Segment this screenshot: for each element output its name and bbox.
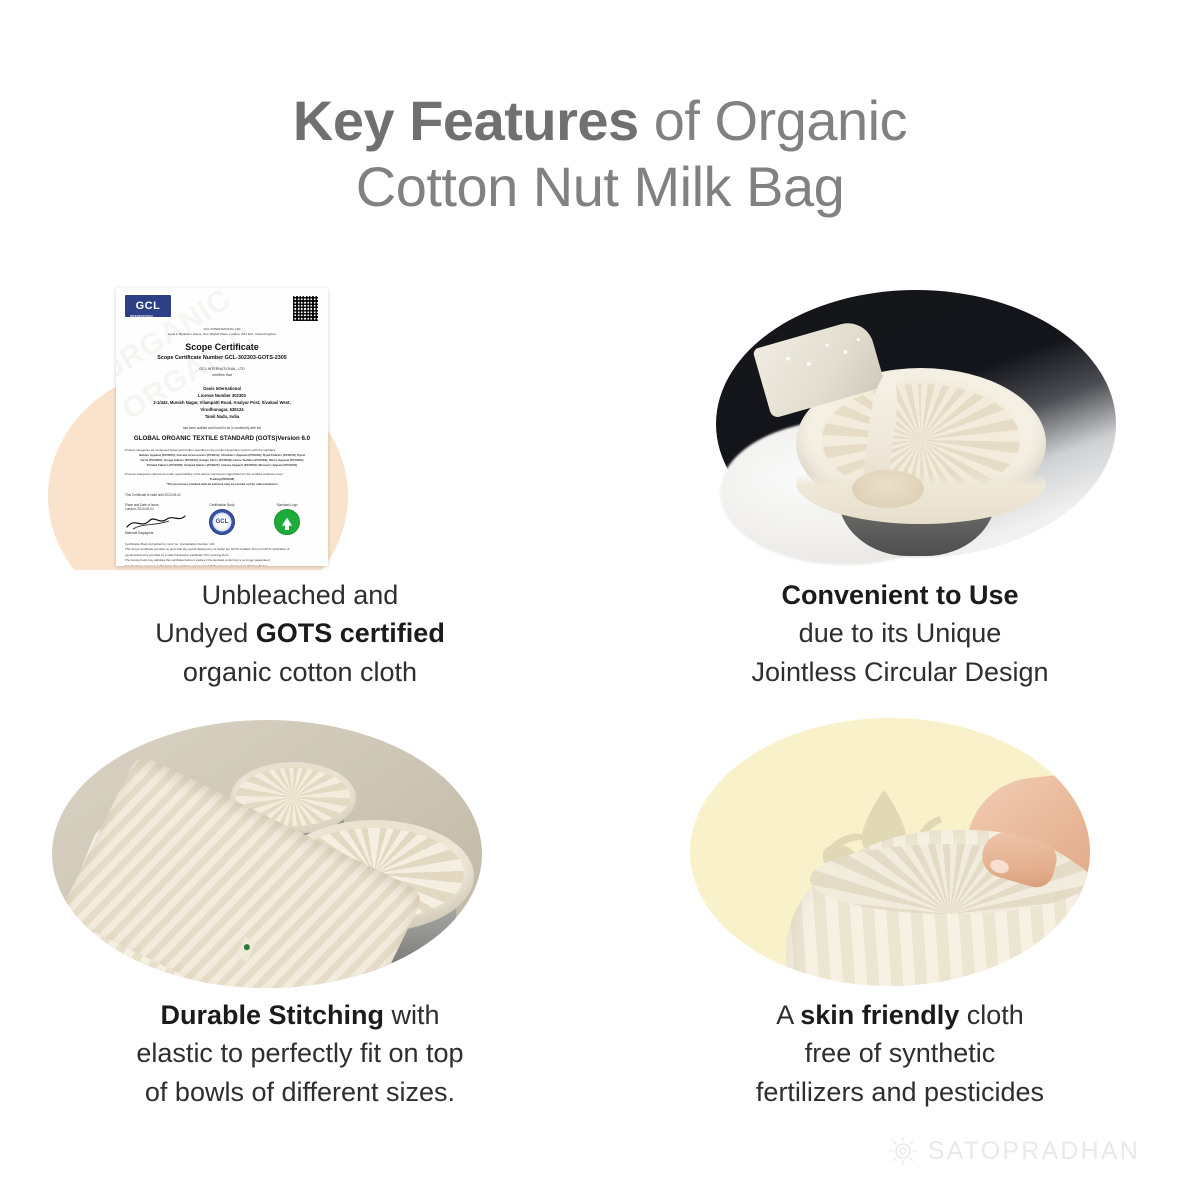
certification-body-column: Certification Body <box>190 503 254 535</box>
title-bold-part: Key Features <box>293 89 639 152</box>
product-categories-block: Product categories as mentioned below (a… <box>125 448 319 467</box>
hand-holding-cloth-photo <box>600 700 1200 990</box>
feature-card-gots-certificate: ORGANIC ORGANIC GCL INTERNATIONAL GCL IN… <box>0 280 600 700</box>
process-note: *The processes marked with an asterisk m… <box>125 482 319 487</box>
caption-3-line-1: Durable Stitching with <box>0 996 600 1034</box>
feature-card-convenient-to-use: Convenient to Use due to its Unique Join… <box>600 280 1200 700</box>
holder-name: Oasis International <box>125 385 319 392</box>
feature-card-durable-stitching: Durable Stitching with elastic to perfec… <box>0 700 600 1120</box>
feature-caption-convenient: Convenient to Use due to its Unique Join… <box>600 576 1200 691</box>
caption-4-line-1-pre: A <box>776 1000 800 1030</box>
gcl-logo: GCL INTERNATIONAL <box>125 295 171 317</box>
title-line-2: Cotton Nut Milk Bag <box>0 154 1200 220</box>
caption-2-line-1-bold: Convenient to Use <box>781 580 1018 610</box>
skin-friendly-scene <box>600 700 1200 990</box>
certification-body-label: Certification Body <box>190 503 254 507</box>
certifies-that-label: certifies that <box>125 373 319 379</box>
holder-license: License Number 302303 <box>125 392 319 399</box>
conformity-statement: has been audited and found to be in conf… <box>125 426 319 430</box>
bowls-scene <box>0 700 600 990</box>
signatory-name: Mahimat Sagulgmar <box>125 531 189 535</box>
categories-line-2: Yarns (PC0029); Greige fabrics (PC0016);… <box>125 458 319 463</box>
handwritten-signature <box>125 511 189 531</box>
feature-caption-skin-friendly: A skin friendly cloth free of synthetic … <box>600 996 1200 1111</box>
standard-name: GLOBAL ORGANIC TEXTILE STANDARD (GOTS)Ve… <box>125 435 319 442</box>
caption-1-line-2-bold: GOTS certified <box>256 618 445 648</box>
certificate-signature-row: Place and Date of issue London, 2023-05-… <box>125 503 319 535</box>
brand-name-text: SATOPRADHAN <box>928 1137 1140 1166</box>
place-and-date-column: Place and Date of issue London, 2023-05-… <box>125 503 189 535</box>
certificate-holder-block: Oasis International License Number 30230… <box>125 385 319 421</box>
pouring-scene <box>600 280 1200 570</box>
brand-watermark: SATOPRADHAN <box>888 1136 1140 1166</box>
process-categories-block: Process categories carried out under res… <box>125 472 319 486</box>
title-light-part: of Organic <box>639 89 907 152</box>
feature-caption-stitching: Durable Stitching with elastic to perfec… <box>0 996 600 1111</box>
certificate-issuer-block: GCL INTERNATIONAL, LTD certifies that <box>125 367 319 379</box>
holder-address-3: Tamil Nadu, India <box>125 413 319 420</box>
gcl-logo-text: GCL <box>136 300 161 312</box>
caption-4-line-2: free of synthetic <box>600 1034 1200 1072</box>
holder-address-2: Virudhunagar, 626124 <box>125 406 319 413</box>
standard-logo-label: Standard Logo <box>255 503 319 507</box>
pouring-nut-milk-photo <box>600 280 1200 570</box>
title-line-1: Key Features of Organic <box>0 88 1200 154</box>
caption-1-line-2: Undyed GOTS certified <box>0 614 600 652</box>
nut-pulp-pool <box>852 470 924 508</box>
caption-3-line-1-post: with <box>384 1000 440 1030</box>
caption-1-line-3: organic cotton cloth <box>0 653 600 691</box>
gots-logo-icon <box>274 509 300 535</box>
gots-certificate-photo: ORGANIC ORGANIC GCL INTERNATIONAL GCL IN… <box>0 280 600 570</box>
footer-note-4: For directions on how to authenticate th… <box>125 564 319 566</box>
standard-logo-column: Standard Logo <box>255 503 319 535</box>
two-bowls-photo <box>0 700 600 990</box>
caption-3-line-2: elastic to perfectly fit on top <box>0 1034 600 1072</box>
page-title: Key Features of Organic Cotton Nut Milk … <box>0 88 1200 220</box>
certificate-issuer-address: GCL INTERNATIONAL LTD Level 2, Berkshire… <box>125 327 319 336</box>
caption-3-line-3: of bowls of different sizes. <box>0 1073 600 1111</box>
gcl-logo-subtext: INTERNATIONAL <box>130 315 154 318</box>
caption-3-line-1-bold: Durable Stitching <box>160 1000 384 1030</box>
certificate-header-row: GCL INTERNATIONAL <box>125 295 319 322</box>
caption-2-line-1: Convenient to Use <box>600 576 1200 614</box>
certificate-footer-notes: Certification Body Accredited by: GCL In… <box>125 542 319 566</box>
validity-statement: This Certificate is valid until 2023-09-… <box>125 493 319 497</box>
features-grid: ORGANIC ORGANIC GCL INTERNATIONAL GCL IN… <box>0 280 1200 1120</box>
caption-2-line-3: Jointless Circular Design <box>600 653 1200 691</box>
infographic-page: Key Features of Organic Cotton Nut Milk … <box>0 0 1200 1200</box>
categories-line-3: Printed Fabrics (PC0035); Undyed fabrics… <box>125 463 319 468</box>
caption-2-line-2: due to its Unique <box>600 614 1200 652</box>
scene-clip-mask-4 <box>690 718 1090 986</box>
issuer-address-line: Level 2, Berkshire House, One Mayfair Pl… <box>125 332 319 337</box>
feature-card-skin-friendly: A skin friendly cloth free of synthetic … <box>600 700 1200 1120</box>
caption-4-line-1-post: cloth <box>959 1000 1024 1030</box>
sun-spiral-icon <box>888 1136 918 1166</box>
gcl-seal-icon <box>209 509 235 535</box>
scope-certificate-document: ORGANIC ORGANIC GCL INTERNATIONAL GCL IN… <box>116 288 328 566</box>
caption-1-line-1: Unbleached and <box>0 576 600 614</box>
caption-4-line-1: A skin friendly cloth <box>600 996 1200 1034</box>
holder-address-1: 2-1/442, Munish Nagar, Vilampatti Road, … <box>125 399 319 406</box>
certificate-title: Scope Certificate <box>125 342 319 352</box>
qr-code-icon <box>292 295 319 322</box>
title-line-2-text: Cotton Nut Milk Bag <box>356 155 844 218</box>
signature-icon <box>125 513 187 531</box>
scene-clip-mask <box>52 720 482 988</box>
feature-caption-gots: Unbleached and Undyed GOTS certified org… <box>0 576 600 691</box>
certificate-number: Scope Certificate Number GCL-302303-GOTS… <box>125 355 319 361</box>
caption-4-line-3: fertilizers and pesticides <box>600 1073 1200 1111</box>
caption-1-line-2-pre: Undyed <box>155 618 256 648</box>
caption-4-line-1-bold: skin friendly <box>800 1000 959 1030</box>
